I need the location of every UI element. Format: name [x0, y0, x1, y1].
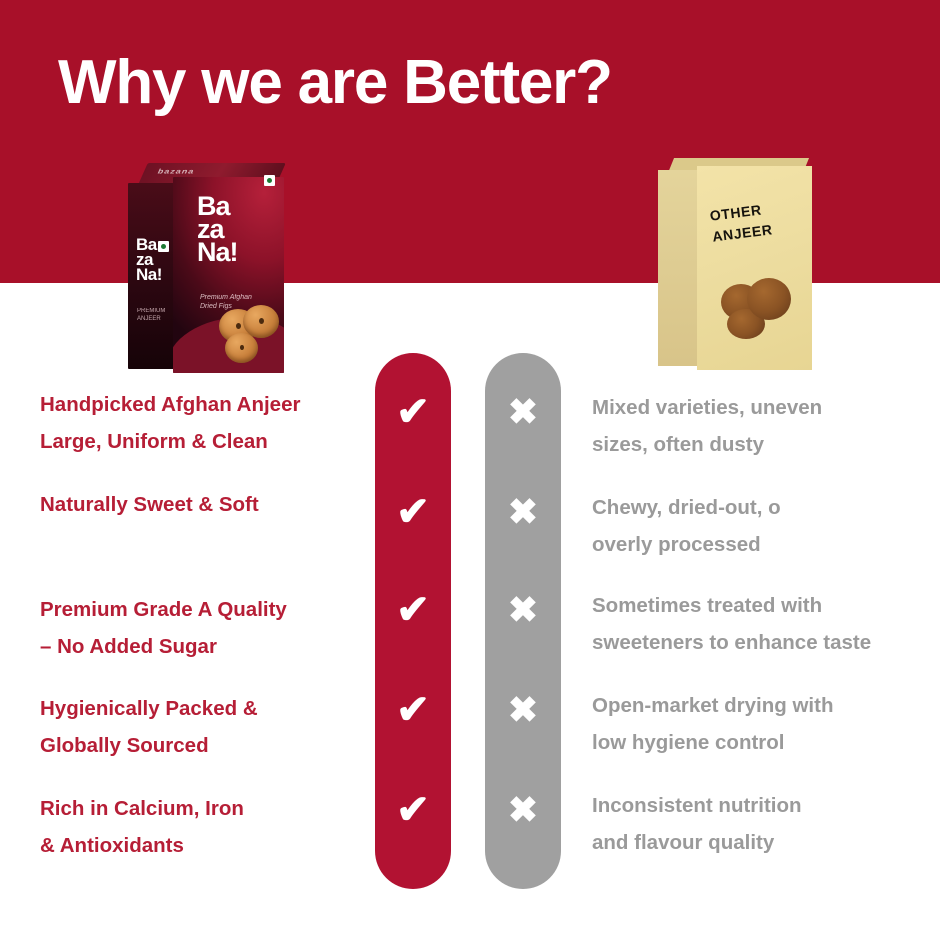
- row-label-line: & Antioxidants: [40, 827, 370, 864]
- side-tagline-line-2: ANJEER: [137, 315, 165, 323]
- cross-icon: ✖: [485, 392, 561, 432]
- page-title: Why we are Better?: [58, 52, 612, 114]
- row-label-line: sizes, often dusty: [592, 426, 932, 463]
- other-box-label: OTHER ANJEER: [709, 198, 774, 247]
- row-label-line: Large, Uniform & Clean: [40, 423, 370, 460]
- brand-box-front-face: Ba za Na! Premium Afghan Dried Figs: [173, 177, 284, 373]
- brand-box-top-text: bazana: [156, 167, 196, 175]
- row-label-line: and flavour quality: [592, 824, 932, 861]
- check-icon: ✔: [375, 590, 451, 630]
- comparison-section: Handpicked Afghan AnjeerLarge, Uniform &…: [0, 353, 940, 889]
- benefit-label: Premium Grade A Quality– No Added Sugar: [40, 591, 370, 665]
- brand-box-logo: Ba za Na!: [197, 195, 238, 264]
- logo-line-3: Na!: [197, 241, 238, 264]
- vegetarian-mark-icon: [158, 241, 169, 252]
- vegetarian-mark-icon: [264, 175, 275, 186]
- row-label-line: Hygienically Packed &: [40, 690, 370, 727]
- benefit-label: Hygienically Packed &Globally Sourced: [40, 690, 370, 764]
- row-label-line: Naturally Sweet & Soft: [40, 486, 370, 523]
- check-icon: ✔: [375, 790, 451, 830]
- poster-root: Why we are Better? bazana Ba za Na! PREM…: [0, 0, 940, 940]
- row-label-line: low hygiene control: [592, 724, 932, 761]
- side-tagline-line-1: PREMIUM: [137, 307, 165, 315]
- dried-fig-icon: [747, 278, 791, 320]
- row-label-line: Mixed varieties, uneven: [592, 389, 932, 426]
- brand-box-tagline: Premium Afghan Dried Figs: [200, 293, 252, 311]
- check-icon: ✔: [375, 492, 451, 532]
- bazana-product-box: bazana Ba za Na! PREMIUM ANJEER Ba za Na…: [128, 163, 284, 373]
- row-label-line: Sometimes treated with: [592, 587, 932, 624]
- check-icon: ✔: [375, 690, 451, 730]
- cross-icon: ✖: [485, 690, 561, 730]
- row-label-line: Handpicked Afghan Anjeer: [40, 386, 370, 423]
- row-label-line: Open-market drying with: [592, 687, 932, 724]
- brand-box-side-tagline: PREMIUM ANJEER: [137, 307, 165, 323]
- drawback-label: Inconsistent nutritionand flavour qualit…: [592, 787, 932, 861]
- row-label-line: – No Added Sugar: [40, 628, 370, 665]
- drawback-label: Sometimes treated withsweeteners to enha…: [592, 587, 932, 661]
- drawback-label: Mixed varieties, unevensizes, often dust…: [592, 389, 932, 463]
- row-label-line: Chewy, dried-out, o: [592, 489, 932, 526]
- side-logo-line-3: Na!: [136, 267, 162, 282]
- drawback-label: Chewy, dried-out, ooverly processed: [592, 489, 932, 563]
- other-box-front-face: OTHER ANJEER: [697, 166, 812, 370]
- cross-icon: ✖: [485, 590, 561, 630]
- row-label-line: sweeteners to enhance taste: [592, 624, 932, 661]
- cross-icon: ✖: [485, 492, 561, 532]
- row-label-line: Inconsistent nutrition: [592, 787, 932, 824]
- benefit-label: Rich in Calcium, Iron& Antioxidants: [40, 790, 370, 864]
- other-box-side-face: [658, 170, 698, 366]
- cross-icon: ✖: [485, 790, 561, 830]
- other-anjeer-box: OTHER ANJEER: [658, 158, 812, 370]
- dried-fig-icon: [243, 305, 279, 338]
- row-label-line: Rich in Calcium, Iron: [40, 790, 370, 827]
- row-label-line: overly processed: [592, 526, 932, 563]
- check-icon: ✔: [375, 392, 451, 432]
- drawback-label: Open-market drying withlow hygiene contr…: [592, 687, 932, 761]
- benefit-label: Naturally Sweet & Soft: [40, 486, 370, 523]
- tagline-line-1: Premium Afghan: [200, 293, 252, 302]
- row-label-line: Globally Sourced: [40, 727, 370, 764]
- brand-box-side-face: Ba za Na! PREMIUM ANJEER: [128, 183, 174, 369]
- row-label-line: Premium Grade A Quality: [40, 591, 370, 628]
- benefit-label: Handpicked Afghan AnjeerLarge, Uniform &…: [40, 386, 370, 460]
